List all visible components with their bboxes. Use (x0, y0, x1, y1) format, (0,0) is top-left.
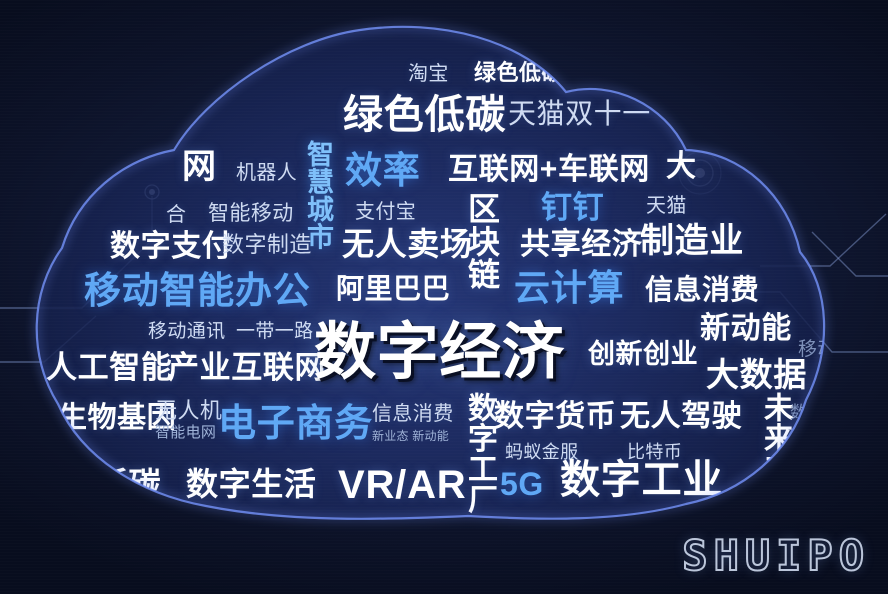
page-title: 数字经济 (314, 322, 564, 384)
watermark-logo: SHUIPO (682, 531, 870, 580)
word-cloud-term: 3D (776, 462, 829, 502)
word-cloud-term: 人工智能 (46, 352, 172, 383)
word-cloud-image: 淘宝绿色低碳绿色低碳天猫双十一网机器人智慧城市效率互联网+车联网大合智能移动支付… (0, 0, 888, 594)
word-cloud-term: 机器人 (236, 163, 297, 183)
word-cloud-term: 电子商务 (218, 405, 373, 443)
word-cloud-term: 支付宝 (355, 202, 416, 222)
word-cloud-term: 新动能 (700, 314, 792, 344)
word-cloud-term: VR/AR (338, 465, 466, 505)
word-cloud-term: 无人卖场 (342, 228, 473, 260)
word-cloud-term: 云计算 (514, 270, 624, 306)
word-cloud-term: 天猫 (646, 196, 687, 216)
word-cloud-term: 天猫双十一 (508, 100, 651, 128)
word-cloud-term: 车联网 (558, 155, 650, 185)
word-cloud-term: 共享经济 (520, 230, 642, 260)
word-cloud-term: 大 (666, 152, 697, 182)
word-cloud-term: 数字制造 (222, 234, 312, 256)
word-cloud-term: 移动智能办公 (84, 272, 310, 309)
word-cloud-term: 绿色低碳 (343, 95, 506, 135)
word-cloud-term: 阿里巴巴 (336, 275, 450, 303)
word-cloud-term: 信息消费 (645, 276, 759, 304)
word-cloud-term: 数字生活 (186, 468, 317, 500)
word-cloud-term: 无人驾驶 (620, 402, 742, 432)
word-cloud-term: 未来工业 (760, 392, 790, 514)
word-cloud-term: 产业互联网 (168, 352, 326, 383)
word-cloud-term: 互联网+ (448, 155, 558, 185)
word-cloud-term: 移动通讯 (148, 322, 226, 341)
word-cloud-term: 信息消费 (372, 404, 454, 424)
word-cloud-term: 数字化 (790, 404, 842, 421)
word-cloud-term: 数字支付 (110, 232, 232, 262)
word-cloud-term: 效率 (345, 152, 420, 189)
word-cloud-term: 数字货币 (494, 402, 616, 432)
word-cloud-term: 新业态 新动能 (372, 430, 449, 442)
word-cloud-term: 绿色低碳 (474, 62, 564, 84)
word-cloud-term: 数字工业 (560, 460, 723, 500)
word-cloud-term: 淘宝 (408, 64, 449, 84)
word-cloud-term: 网 (182, 150, 217, 184)
word-cloud-term: 智能移动 (208, 203, 294, 224)
word-cloud-term: 一带一路 (236, 322, 314, 341)
word-cloud-term: 数字工厂 (464, 392, 494, 514)
word-cloud-term: 大数据 (706, 358, 807, 391)
word-cloud-term: 创新创业 (588, 341, 698, 368)
word-cloud-term: 无人机 (155, 400, 222, 422)
cloud-shape: 淘宝绿色低碳绿色低碳天猫双十一网机器人智慧城市效率互联网+车联网大合智能移动支付… (0, 0, 888, 594)
word-cloud-term: 低碳 (96, 468, 161, 500)
word-cloud-term: 5G (500, 468, 544, 500)
word-cloud-term: 钉钉 (541, 192, 604, 223)
word-cloud-term: 合 (166, 205, 186, 225)
word-cloud-term: 制造业 (640, 224, 744, 258)
word-cloud-term: 智能电网 (155, 425, 216, 440)
